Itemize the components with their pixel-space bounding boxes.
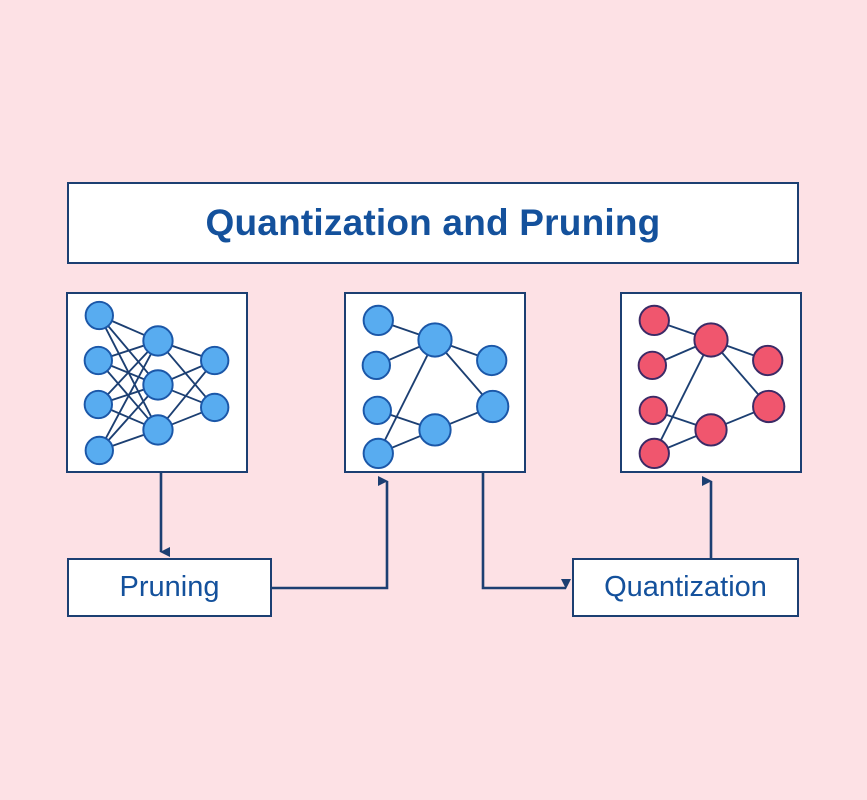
network-node <box>694 323 727 356</box>
network-node <box>364 439 393 468</box>
network-nodes <box>363 306 509 468</box>
network-node <box>85 347 112 374</box>
network-node <box>695 414 726 445</box>
page-title: Quantization and Pruning <box>206 202 661 244</box>
network-node <box>640 397 667 424</box>
network-quantized-box <box>620 292 802 473</box>
network-dense-box <box>66 292 248 473</box>
arrow-pruning-to-pruned-net <box>272 481 387 588</box>
network-node <box>477 391 508 422</box>
network-node <box>364 397 391 424</box>
network-node <box>143 370 172 399</box>
network-node <box>753 346 782 375</box>
network-node <box>418 323 451 356</box>
network-quantized-graphic <box>622 294 800 471</box>
network-pruned-box <box>344 292 526 473</box>
network-node <box>419 414 450 445</box>
network-dense-graphic <box>68 294 246 471</box>
network-node <box>86 302 113 329</box>
network-node <box>85 391 112 418</box>
network-node <box>86 437 113 464</box>
network-node <box>640 306 669 335</box>
quantization-label: Quantization <box>604 571 767 604</box>
pruning-label: Pruning <box>120 571 220 604</box>
pruning-step-box[interactable]: Pruning <box>67 558 272 617</box>
network-node <box>639 352 666 379</box>
network-pruned-graphic <box>346 294 524 471</box>
network-node <box>201 394 228 421</box>
network-node <box>477 346 506 375</box>
network-node <box>753 391 784 422</box>
diagram-canvas: Quantization and Pruning <box>0 0 867 800</box>
network-nodes <box>639 306 785 468</box>
network-nodes <box>85 302 229 464</box>
network-node <box>364 306 393 335</box>
network-node <box>143 326 172 355</box>
title-box: Quantization and Pruning <box>67 182 799 264</box>
quantization-step-box[interactable]: Quantization <box>572 558 799 617</box>
network-node <box>640 439 669 468</box>
network-node <box>201 347 228 374</box>
network-node <box>143 415 172 444</box>
arrow-pruned-net-to-quantization <box>483 473 566 588</box>
network-node <box>363 352 390 379</box>
